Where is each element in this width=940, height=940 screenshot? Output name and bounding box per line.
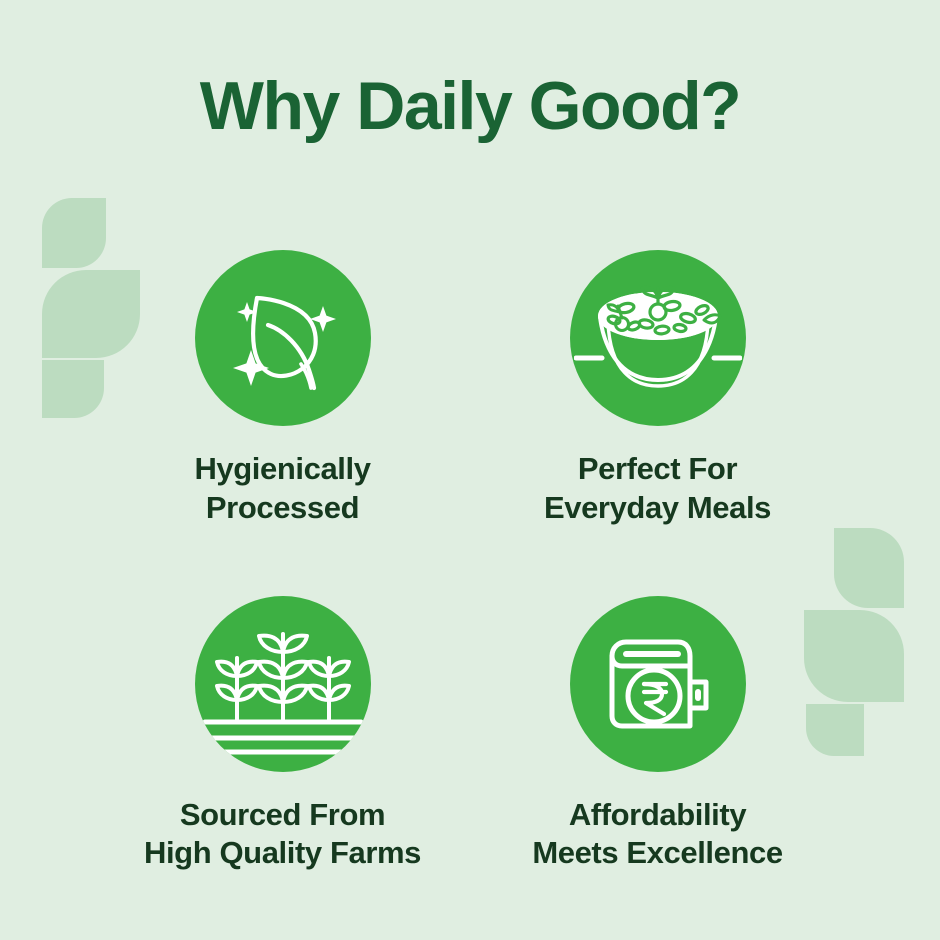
feature-item-affordability: Affordability Meets Excellence bbox=[470, 596, 845, 874]
feature-item-high-quality-farms: Sourced From High Quality Farms bbox=[95, 596, 470, 874]
feature-label: Perfect For Everyday Meals bbox=[544, 450, 771, 528]
page-title: Why Daily Good? bbox=[0, 72, 940, 140]
badge-circle bbox=[570, 596, 746, 772]
sparkle-leaf-icon bbox=[223, 278, 343, 398]
feature-item-hygienically-processed: Hygienically Processed bbox=[95, 250, 470, 528]
feature-label: Sourced From High Quality Farms bbox=[144, 796, 421, 874]
poster-canvas: Why Daily Good? bbox=[0, 0, 940, 940]
feature-item-everyday-meals: Perfect For Everyday Meals bbox=[470, 250, 845, 528]
badge-circle bbox=[195, 250, 371, 426]
feature-label: Affordability Meets Excellence bbox=[532, 796, 782, 874]
badge-circle bbox=[570, 250, 746, 426]
soup-bowl-icon bbox=[574, 254, 742, 422]
wheat-field-icon bbox=[199, 600, 367, 768]
feature-grid: Hygienically Processed bbox=[95, 250, 845, 873]
feature-label: Hygienically Processed bbox=[194, 450, 370, 528]
wallet-rupee-icon bbox=[598, 624, 718, 744]
badge-circle bbox=[195, 596, 371, 772]
